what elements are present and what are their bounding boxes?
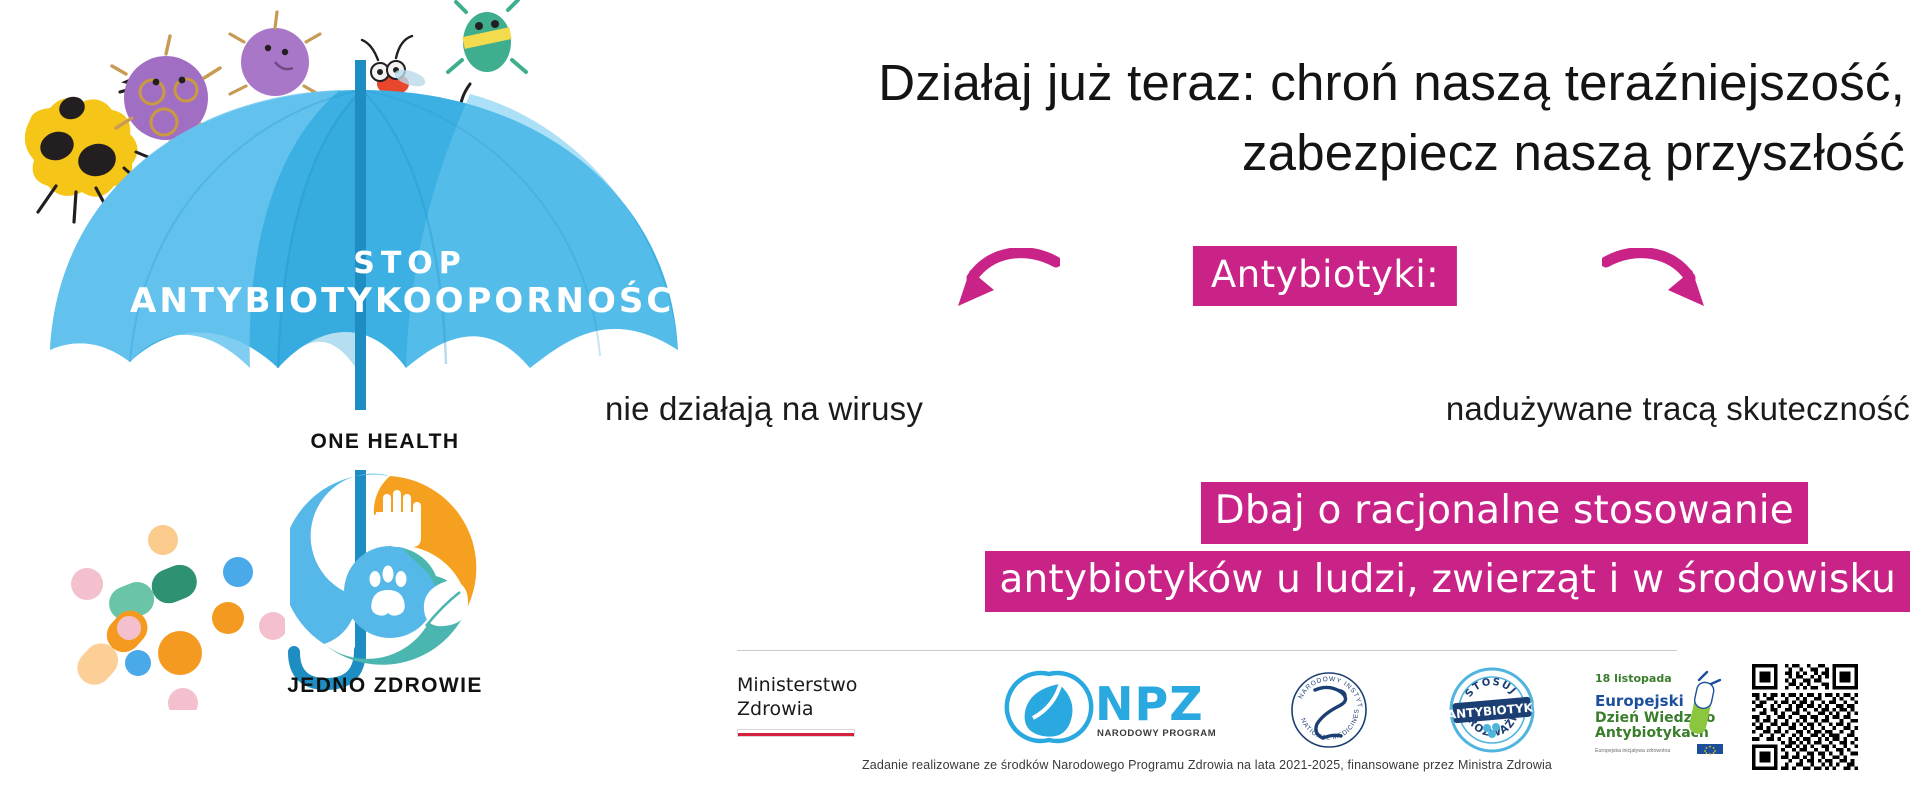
footer-divider xyxy=(737,650,1677,651)
headline-line-2: zabezpiecz naszą przyszłość xyxy=(660,118,1905,188)
one-health-label: ONE HEALTH xyxy=(185,430,585,454)
curved-arrow-left-icon xyxy=(950,248,1060,310)
antibiotics-heading-row: Antybiotyki: xyxy=(820,240,1830,310)
cta-line-2: antybiotyków u ludzi, zwierząt i w środo… xyxy=(985,551,1910,613)
antibiotics-point-right: nadużywane tracą skuteczność xyxy=(1446,390,1910,428)
funding-footnote: Zadanie realizowane ze środków Narodoweg… xyxy=(737,758,1677,772)
pill-dot xyxy=(148,525,178,555)
poster-root: STOP ANTYBIOTYKOOPORNOŚCI ONE HEALTH xyxy=(0,0,1920,810)
headline-line-1: Działaj już teraz: chroń naszą teraźniej… xyxy=(660,48,1905,118)
eu-flag-icon xyxy=(1697,744,1723,754)
npz-swirl-icon xyxy=(1007,673,1091,741)
ministry-of-health-logo: Ministerstwo Zdrowia xyxy=(737,674,857,737)
headline: Działaj już teraz: chroń naszą teraźniej… xyxy=(660,48,1905,189)
pill-dot xyxy=(212,602,244,634)
npz-logo: NPZ NARODOWY PROGRAM ZDROWIA xyxy=(987,666,1217,749)
npz-acronym: NPZ xyxy=(1095,677,1204,731)
partner-logos-row: Ministerstwo Zdrowia NPZ NARODOWY PROGRA xyxy=(737,664,1902,756)
eaad-date: 18 listopada xyxy=(1595,672,1672,685)
ministry-name-line2: Zdrowia xyxy=(737,698,857,722)
cta-block: Dbaj o racjonalne stosowanie antybiotykó… xyxy=(660,482,1910,612)
ministry-name-line1: Ministerstwo xyxy=(737,674,857,698)
antibiotics-chip: Antybiotyki: xyxy=(1193,246,1457,306)
eaad-eu-note: Europejska inicjatywa zdrowotna xyxy=(1595,748,1670,754)
pills-illustration xyxy=(25,520,285,710)
nil-text-bottom: NATIONAL MEDICINES INSTITUTE xyxy=(1277,666,1361,742)
one-health-triskelion-icon xyxy=(290,468,490,668)
umbrella-shaft xyxy=(355,94,366,410)
national-medicines-institute-logo: NARODOWY INSTYTUT LEKÓW NATIONAL MEDICIN… xyxy=(1277,666,1381,759)
footer-panel: Ministerstwo Zdrowia NPZ NARODOWY PROGRA xyxy=(737,650,1902,795)
pill-dot xyxy=(168,688,198,710)
pill-dot xyxy=(125,650,151,676)
poland-flag-icon xyxy=(737,729,855,737)
stosuj-antybiotyki-rozwaznie-logo: STOSUJ ROZWAŻNIE ANTYBIOTYKI xyxy=(1437,664,1547,761)
npz-subtitle: NARODOWY PROGRAM ZDROWIA xyxy=(1097,728,1217,739)
antibiotics-points-row: nie działają na wirusy nadużywane tracą … xyxy=(660,390,1910,428)
qr-code-icon[interactable] xyxy=(1752,664,1858,770)
antibiotics-point-left: nie działają na wirusy xyxy=(605,390,923,428)
pill-dot xyxy=(71,568,103,600)
pill-dot xyxy=(117,616,141,640)
eaad-logo: 18 listopada Europejski Dzień Wiedzy o A… xyxy=(1589,666,1727,761)
cta-line-1: Dbaj o racjonalne stosowanie xyxy=(1201,482,1808,544)
pill-dot xyxy=(223,557,253,587)
pill-dot xyxy=(259,612,285,640)
pill-dot xyxy=(158,631,202,675)
eaad-line1: Europejski xyxy=(1595,692,1684,710)
curved-arrow-right-icon xyxy=(1602,248,1712,310)
capsule-orange-icon xyxy=(70,604,154,692)
